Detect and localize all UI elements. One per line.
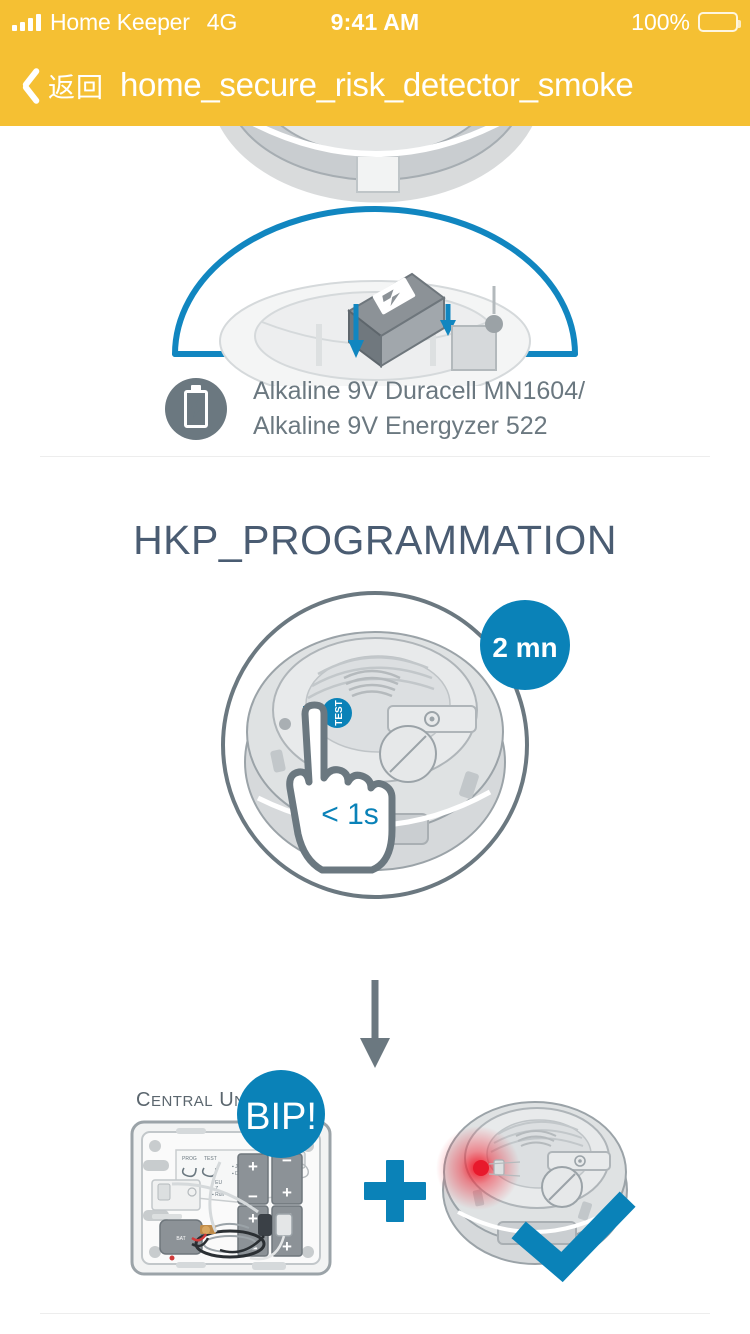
plus-icon [364, 1160, 426, 1222]
arrow-down-icon [0, 976, 750, 1076]
page-content[interactable]: Alkaline 9V Duracell MN1604/ Alkaline 9V… [0, 126, 750, 1334]
battery-spec-line-2: Alkaline 9V Energyzer 522 [253, 412, 548, 440]
page-title: home_secure_risk_detector_smoke [120, 66, 633, 104]
svg-text:TEST: TEST [334, 700, 345, 726]
detector-test-press-diagram: TEST < 1s 2 mn [0, 582, 750, 912]
battery-full-icon [698, 12, 738, 32]
section-heading-programmation: HKP_PROGRAMMATION [0, 517, 750, 564]
battery-bolt-icon [165, 378, 227, 440]
battery-insertion-diagram: Alkaline 9V Duracell MN1604/ Alkaline 9V… [0, 126, 750, 456]
back-button[interactable]: 返回 [14, 64, 104, 106]
navigation-bar: 返回 home_secure_risk_detector_smoke [0, 44, 750, 126]
svg-text:PROG: PROG [182, 1156, 197, 1162]
svg-text:+: + [248, 1157, 258, 1176]
bip-badge-label: BIP! [245, 1096, 317, 1138]
battery-spec-text: Alkaline 9V Duracell MN1604/ Alkaline 9V… [253, 374, 585, 443]
svg-text:BAT: BAT [176, 1236, 185, 1242]
duration-badge-label: 2 mn [492, 632, 557, 663]
result-diagram-svg: CENTRAL UNIT PROGTEST [0, 1062, 750, 1292]
svg-text:+: + [282, 1183, 292, 1202]
red-led-glow-icon [436, 1126, 520, 1210]
back-button-label: 返回 [48, 66, 104, 105]
bolt-glyph [189, 398, 203, 420]
detector-bottom-cutoff [206, 126, 546, 206]
section-divider-top [40, 456, 710, 457]
battery-diagram-svg [0, 126, 750, 386]
status-bar-clock: 9:41 AM [0, 9, 750, 36]
svg-text:−: − [248, 1187, 258, 1206]
press-duration-label: < 1s [321, 798, 379, 831]
section-divider-bottom [40, 1313, 710, 1314]
duration-badge: 2 mn [480, 600, 570, 690]
chevron-left-icon [14, 64, 38, 106]
result-illustration: CENTRAL UNIT PROGTEST [0, 1084, 750, 1299]
bip-badge: BIP! [237, 1070, 325, 1158]
status-bar: Home Keeper 4G 9:41 AM 100% [0, 0, 750, 44]
svg-text:TEST: TEST [204, 1156, 217, 1162]
programmation-illustration: TEST < 1s 2 mn [0, 564, 750, 994]
battery-spec-line-1: Alkaline 9V Duracell MN1604/ [253, 377, 585, 405]
